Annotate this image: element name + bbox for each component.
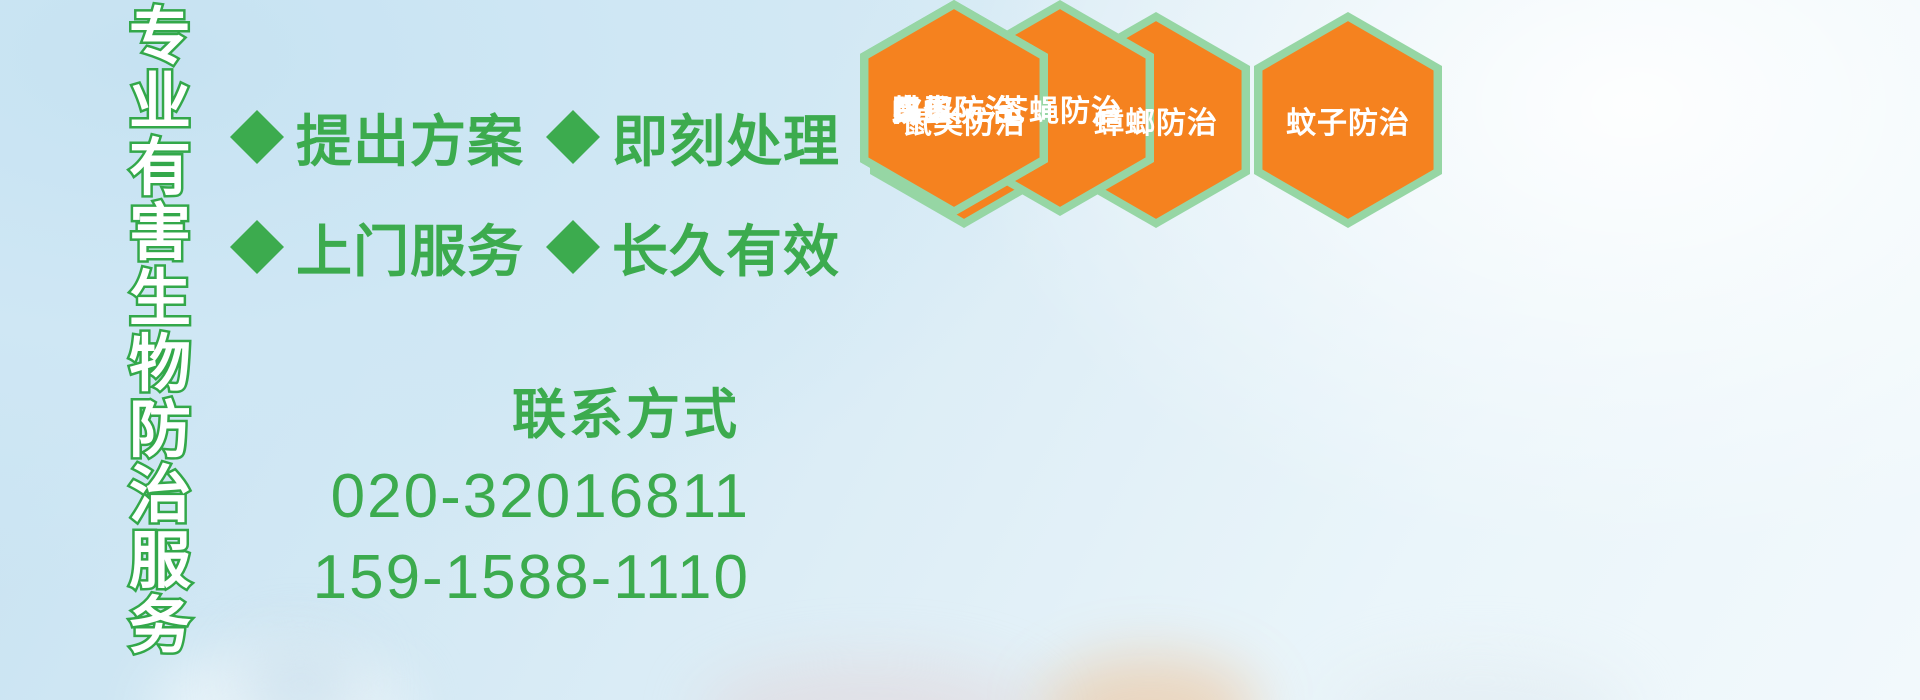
feature-label: 上门服务 <box>296 207 524 288</box>
background-blur-blob <box>240 640 360 700</box>
feature-label: 即刻处理 <box>612 97 840 178</box>
service-honeycomb-grid: 鼠类防治 蟑螂防治 蚊子防治 苍蝇防治 跳蚤防治 白蚁防治 <box>860 0 1480 560</box>
vertical-slogan-char: 服 <box>129 532 191 593</box>
feature-item: 上门服务 <box>230 207 524 288</box>
vertical-slogan-char: 有 <box>129 139 191 200</box>
diamond-icon <box>546 83 600 137</box>
vertical-slogan-char: 防 <box>129 401 191 462</box>
vertical-slogan-char: 物 <box>129 335 191 396</box>
vertical-slogan-char: 务 <box>129 597 191 658</box>
background-blur-blob <box>700 660 1040 700</box>
feature-row: 提出方案 即刻处理 <box>230 82 870 192</box>
feature-row: 上门服务 长久有效 <box>230 192 870 302</box>
phone-number-landline[interactable]: 020-32016811 <box>230 457 750 538</box>
feature-item: 提出方案 <box>230 97 524 178</box>
background-blur-blob <box>1330 660 1630 700</box>
vertical-slogan-char: 生 <box>129 270 191 331</box>
service-hex-label: 蚊子防治 <box>1286 98 1410 142</box>
diamond-icon <box>546 193 600 247</box>
service-hex-label: 苍蝇防治 <box>998 86 1122 130</box>
feature-list: 提出方案 即刻处理 上门服务 长久有效 <box>230 82 870 302</box>
feature-item: 长久有效 <box>546 207 840 288</box>
vertical-slogan-char: 业 <box>129 73 191 134</box>
phone-number-mobile[interactable]: 159-1588-1110 <box>230 538 750 619</box>
pest-control-service-banner: 专 业 有 害 生 物 防 治 服 务 提出方案 即刻处理 上门服务 <box>0 0 1920 700</box>
feature-item: 即刻处理 <box>546 97 840 178</box>
feature-label: 长久有效 <box>612 207 840 288</box>
service-hex-label: 蚂蚁防治 <box>892 86 1016 130</box>
vertical-slogan-char: 害 <box>129 204 191 265</box>
vertical-slogan-char: 治 <box>129 466 191 527</box>
vertical-slogan-char: 专 <box>129 8 191 69</box>
background-blur-blob <box>1040 655 1260 700</box>
feature-label: 提出方案 <box>296 97 524 178</box>
diamond-icon <box>230 193 284 247</box>
contact-label: 联系方式 <box>230 386 750 445</box>
vertical-slogan: 专 业 有 害 生 物 防 治 服 务 <box>112 8 208 658</box>
contact-block: 联系方式 020-32016811 159-1588-1110 <box>230 386 750 619</box>
diamond-icon <box>230 83 284 137</box>
service-hex-mosquito[interactable]: 蚊子防治 <box>1254 12 1442 228</box>
